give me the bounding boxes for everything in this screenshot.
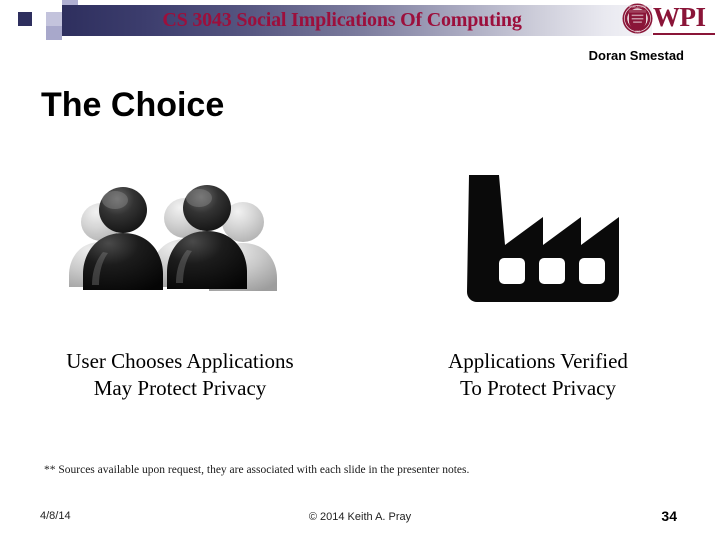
caption-right-line2: To Protect Privacy — [393, 375, 683, 402]
content-column-left: User Chooses Applications May Protect Pr… — [35, 160, 325, 410]
factory-icon-container — [393, 160, 683, 320]
wpi-logo: WORCESTER 1865 WPI — [622, 2, 716, 36]
decorative-square-0 — [18, 12, 32, 26]
users-group-icon-container — [35, 160, 325, 320]
footer-copyright: © 2014 Keith A. Pray — [0, 511, 720, 523]
decorative-square-11 — [62, 40, 78, 54]
decorative-square-7 — [30, 40, 46, 54]
caption-left-line1: User Chooses Applications — [35, 348, 325, 375]
svg-text:WORCESTER: WORCESTER — [629, 4, 647, 8]
caption-right: Applications Verified To Protect Privacy — [393, 348, 683, 402]
wpi-underline — [653, 33, 715, 35]
decorative-square-2 — [32, 26, 46, 40]
caption-left-line2: May Protect Privacy — [35, 375, 325, 402]
decorative-square-5 — [46, 26, 62, 40]
course-title: CS 3043 Social Implications Of Computing — [62, 6, 622, 36]
factory-icon — [393, 160, 683, 320]
wpi-wordmark: WPI — [653, 2, 716, 32]
presentation-slide: CS 3043 Social Implications Of Computing… — [0, 0, 720, 540]
decorative-square-6 — [46, 40, 62, 54]
caption-right-line1: Applications Verified — [393, 348, 683, 375]
decorative-square-1 — [32, 0, 46, 12]
presenter-name: Doran Smestad — [589, 48, 684, 63]
decorative-square-3 — [46, 0, 62, 12]
caption-left: User Chooses Applications May Protect Pr… — [35, 348, 325, 402]
users-group-icon — [35, 160, 325, 320]
page-title: The Choice — [41, 86, 224, 125]
svg-text:1865: 1865 — [635, 31, 641, 34]
sources-footnote: ** Sources available upon request, they … — [44, 464, 469, 476]
wpi-seal-icon: WORCESTER 1865 — [622, 3, 653, 34]
content-column-right: Applications Verified To Protect Privacy — [393, 160, 683, 410]
footer-page-number: 34 — [661, 508, 677, 524]
decorative-square-13 — [0, 0, 18, 54]
slide-header: CS 3043 Social Implications Of Computing… — [0, 0, 720, 44]
decorative-square-4 — [46, 12, 62, 26]
